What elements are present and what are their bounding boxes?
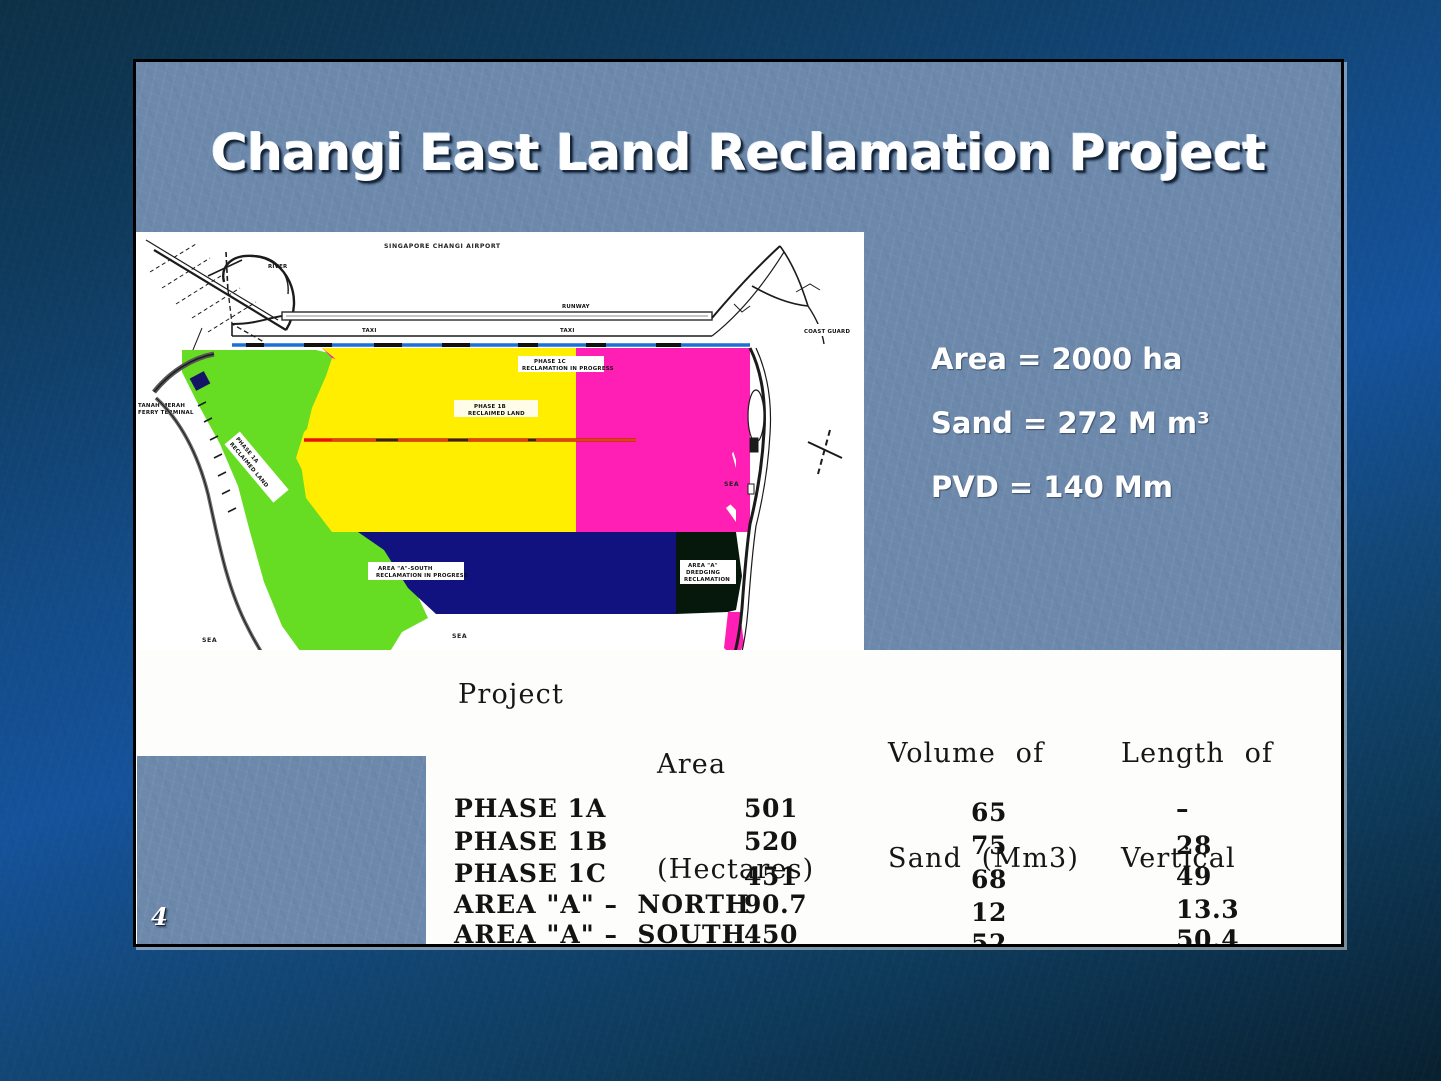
- svg-text:AREA "A": AREA "A": [688, 563, 718, 569]
- table-cell-drain: 28: [1176, 831, 1212, 860]
- svg-text:RECLAMATION: RECLAMATION: [684, 577, 730, 583]
- summary-panel: Area = 2000 ha Sand = 272 M m³ PVD = 140…: [864, 232, 1344, 650]
- svg-text:COAST GUARD: COAST GUARD: [804, 329, 850, 335]
- slide-number: 4: [151, 902, 168, 931]
- map-sea-label-2: SEA: [452, 633, 467, 640]
- svg-text:PROGRESS: PROGRESS: [688, 584, 722, 590]
- svg-text:PHASE 1B: PHASE 1B: [474, 404, 506, 410]
- table-cell-drain: 50.4: [1176, 925, 1239, 947]
- map-label-phase-1b: PHASE 1B RECLAIMED LAND: [454, 400, 538, 417]
- table-cell-area: 450: [744, 920, 798, 947]
- map-label-coastguard: COAST GUARD: [800, 324, 850, 336]
- summary-item-sand: Sand = 272 M m³: [931, 406, 1210, 440]
- table-cell-sand: 68: [971, 865, 1007, 894]
- svg-text:RECLAIMED LAND: RECLAIMED LAND: [468, 411, 525, 417]
- summary-item-area: Area = 2000 ha: [931, 342, 1210, 376]
- map-sea-label-3: SEA: [202, 637, 217, 644]
- table-row: AREA "A" – NORTH: [454, 890, 750, 919]
- svg-text:RECLAMATION IN PROGRESS: RECLAMATION IN PROGRESS: [522, 366, 614, 372]
- table-cell-sand: 75: [971, 831, 1007, 860]
- svg-text:AREA "A"-SOUTH: AREA "A"-SOUTH: [378, 566, 433, 572]
- table-cell-sand: 52: [971, 929, 1007, 947]
- summary-item-pvd: PVD = 140 Mm: [931, 470, 1210, 504]
- svg-text:FERRY TERMINAL: FERRY TERMINAL: [138, 410, 194, 416]
- slide-background: Changi East Land Reclamation Project SIN…: [0, 0, 1441, 1081]
- svg-text:DREDGING: DREDGING: [686, 570, 720, 576]
- slide-content-frame: Changi East Land Reclamation Project SIN…: [133, 59, 1344, 947]
- table-cell-area: 90.7: [744, 890, 807, 919]
- table-header-area-line1: Area: [657, 747, 814, 782]
- svg-text:SINGAPORE CHANGI AIRPORT: SINGAPORE CHANGI AIRPORT: [384, 243, 501, 250]
- page-title: Changi East Land Reclamation Project: [136, 124, 1341, 182]
- svg-text:RECLAMATION IN PROGRESS: RECLAMATION IN PROGRESS: [376, 573, 468, 579]
- map-label-phase-1c: PHASE 1C RECLAMATION IN PROGRESS: [518, 356, 614, 372]
- table-row: PHASE 1A: [454, 794, 606, 823]
- map-airport-label: SINGAPORE CHANGI AIRPORT: [384, 243, 501, 250]
- table-row: PHASE 1B: [454, 827, 608, 856]
- svg-text:RUNWAY: RUNWAY: [562, 304, 590, 310]
- table-header-length-line3: Drain (Mm): [1121, 946, 1302, 947]
- map-label-area-a-south: AREA "A"-SOUTH RECLAMATION IN PROGRESS: [368, 562, 468, 580]
- table-cell-sand: 12: [971, 898, 1007, 927]
- svg-text:TAXI: TAXI: [362, 328, 377, 334]
- table-cell-area: 451: [744, 862, 798, 891]
- table-header-volume-line1: Volume of: [888, 736, 1079, 771]
- table-row: PHASE 1C: [454, 859, 607, 888]
- table-row: AREA "A" – SOUTH: [454, 920, 746, 947]
- table-cell-drain: 13.3: [1176, 895, 1239, 924]
- map-sea-label-1: SEA: [724, 481, 739, 488]
- table-cell-area: 501: [744, 794, 798, 823]
- svg-text:RIVER: RIVER: [268, 264, 288, 270]
- svg-text:PHASE 1C: PHASE 1C: [534, 359, 566, 365]
- table-header-length-line1: Length of: [1121, 736, 1302, 771]
- table-cell-drain: –: [1176, 794, 1189, 823]
- table-cell-sand: 65: [971, 798, 1007, 827]
- table-header-project: Project: [458, 677, 564, 712]
- summary-list: Area = 2000 ha Sand = 272 M m³ PVD = 140…: [931, 342, 1210, 504]
- svg-text:TAXI: TAXI: [560, 328, 575, 334]
- table-cell-drain: 49: [1176, 862, 1212, 891]
- table-cell-area: 520: [744, 827, 798, 856]
- slide-number-panel: 4: [137, 756, 426, 947]
